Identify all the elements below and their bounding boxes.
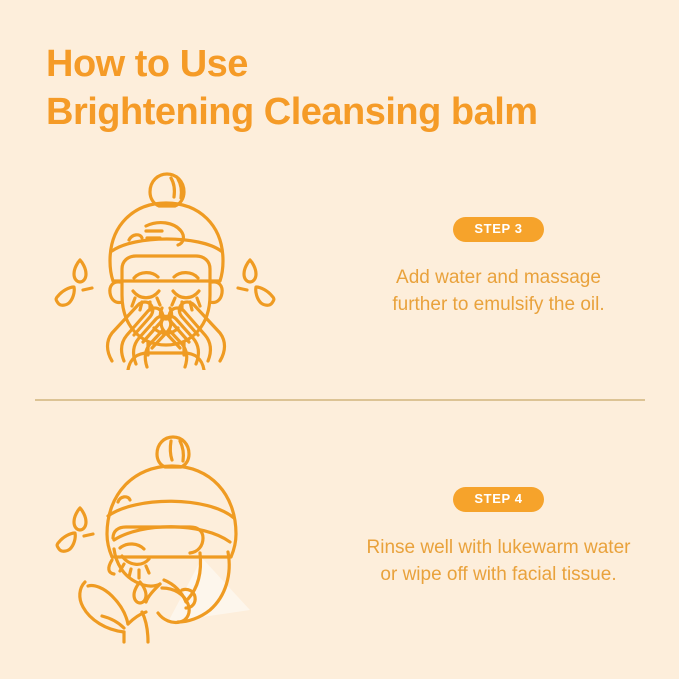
- step-4-description-line-2: or wipe off with facial tissue.: [367, 561, 631, 588]
- step-3-badge: STEP 3: [453, 217, 543, 242]
- page-title: How to Use Brightening Cleansing balm: [46, 40, 646, 136]
- step-4-description-line-1: Rinse well with lukewarm water: [367, 537, 631, 558]
- step-row-4: STEP 4 Rinse well with lukewarm water or…: [0, 425, 679, 650]
- step-3-description-line-1: Add water and massage: [396, 267, 601, 288]
- step-4-description: Rinse well with lukewarm water or wipe o…: [367, 534, 631, 588]
- step-3-text: STEP 3 Add water and massage further to …: [330, 160, 679, 375]
- step-row-3: STEP 3 Add water and massage further to …: [0, 160, 679, 375]
- section-divider: [35, 399, 645, 401]
- title-line-1: How to Use: [46, 40, 646, 88]
- illustration-step-4: [0, 425, 330, 650]
- woman-rinsing-face-icon: [50, 430, 280, 645]
- illustration-step-3: [0, 160, 330, 375]
- how-to-use-infographic: How to Use Brightening Cleansing balm: [0, 0, 679, 679]
- title-line-2: Brightening Cleansing balm: [46, 88, 646, 136]
- woman-massaging-face-icon: [50, 165, 280, 370]
- step-4-text: STEP 4 Rinse well with lukewarm water or…: [330, 425, 679, 650]
- step-3-description: Add water and massage further to emulsif…: [392, 264, 604, 318]
- step-4-badge: STEP 4: [453, 487, 543, 512]
- step-3-description-line-2: further to emulsify the oil.: [392, 291, 604, 318]
